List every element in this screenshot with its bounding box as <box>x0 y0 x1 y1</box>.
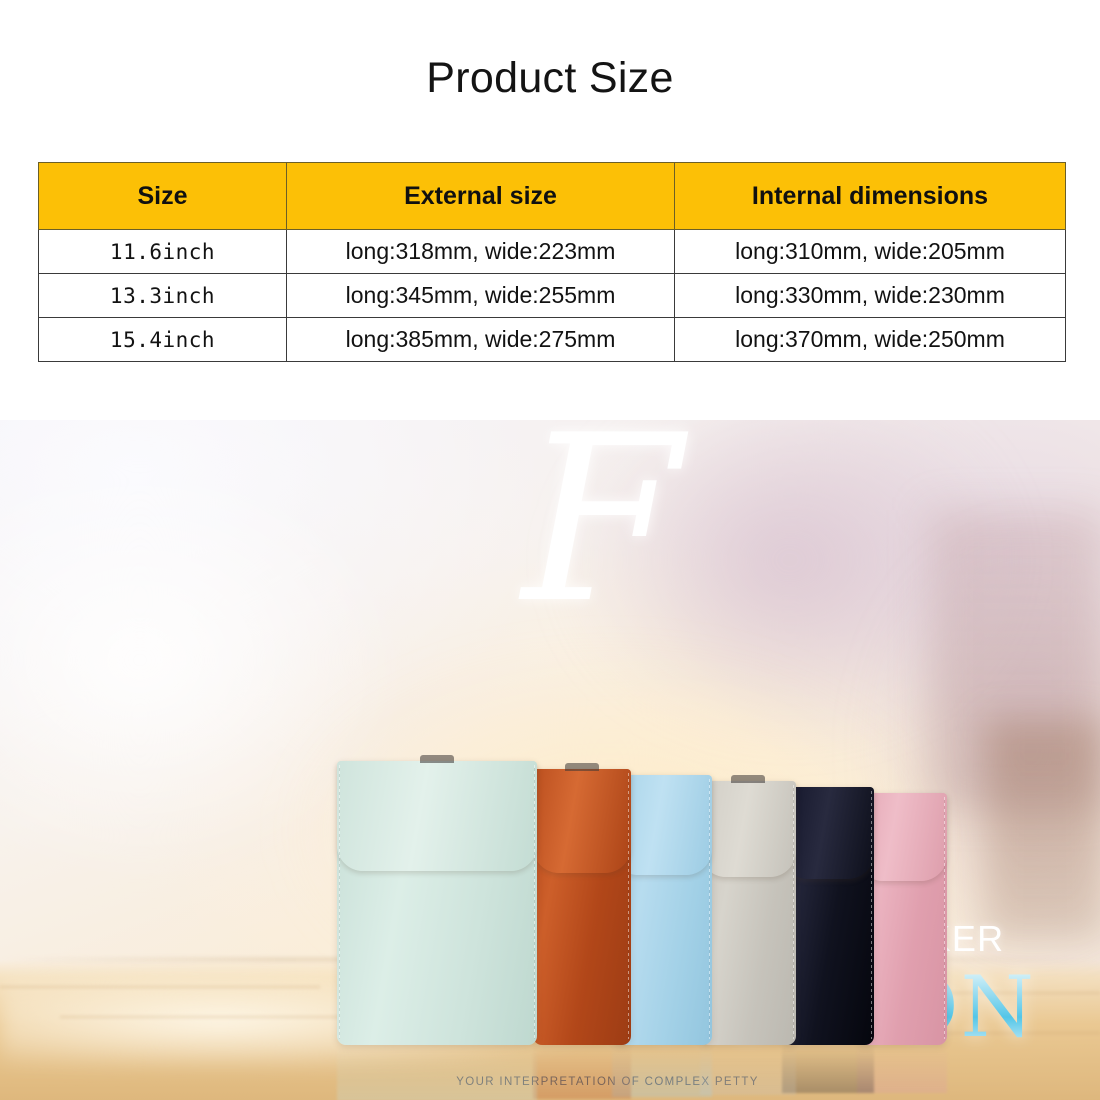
cell-internal: long:330mm, wide:230mm <box>675 274 1066 318</box>
sleeve-stitching <box>534 765 535 1039</box>
header-cell-external-size: External size <box>287 163 675 230</box>
cell-external: long:318mm, wide:223mm <box>287 230 675 274</box>
sleeve-stitching <box>628 773 629 1039</box>
sleeve-stitching <box>709 779 710 1039</box>
table-body: 11.6inch long:318mm, wide:223mm long:310… <box>39 230 1066 362</box>
table-row: 13.3inch long:345mm, wide:255mm long:330… <box>39 274 1066 318</box>
sleeve-flap <box>700 781 796 877</box>
product-sleeves-group <box>0 420 1100 1100</box>
sleeve-flap <box>533 769 631 873</box>
mint-green-sleeve[interactable] <box>337 761 537 1045</box>
table-row: 15.4inch long:385mm, wide:275mm long:370… <box>39 318 1066 362</box>
sleeve-stitching <box>339 765 340 1039</box>
cell-size: 15.4inch <box>39 318 287 362</box>
sleeve-stitching <box>944 797 945 1039</box>
sleeve-stitching <box>871 791 872 1039</box>
cell-internal: long:370mm, wide:250mm <box>675 318 1066 362</box>
grey-beige-sleeve[interactable] <box>700 781 796 1045</box>
mint-green-sleeve-reflection <box>337 1045 537 1100</box>
cell-size: 13.3inch <box>39 274 287 318</box>
rust-orange-sleeve[interactable] <box>533 769 631 1045</box>
sleeve-stitching <box>793 785 794 1039</box>
product-size-page: Product Size Size External size Internal… <box>0 0 1100 1100</box>
table-header-row: Size External size Internal dimensions <box>39 163 1066 230</box>
rust-orange-sleeve-reflection <box>533 1045 631 1099</box>
cell-external: long:385mm, wide:275mm <box>287 318 675 362</box>
cell-size: 11.6inch <box>39 230 287 274</box>
table-row: 11.6inch long:318mm, wide:223mm long:310… <box>39 230 1066 274</box>
header-cell-size: Size <box>39 163 287 230</box>
page-title: Product Size <box>0 52 1100 104</box>
sleeve-tab <box>565 763 599 771</box>
sleeve-tab <box>420 755 454 763</box>
cell-external: long:345mm, wide:255mm <box>287 274 675 318</box>
product-hero-image: F ASHIONABLE JOKER FASHION YOUR INTERPRE… <box>0 420 1100 1100</box>
grey-beige-sleeve-reflection <box>700 1045 796 1095</box>
table-header: Size External size Internal dimensions <box>39 163 1066 230</box>
sleeve-tab <box>731 775 765 783</box>
sleeve-flap <box>337 761 537 871</box>
product-size-table: Size External size Internal dimensions 1… <box>38 162 1066 362</box>
cell-internal: long:310mm, wide:205mm <box>675 230 1066 274</box>
header-cell-internal-dimensions: Internal dimensions <box>675 163 1066 230</box>
